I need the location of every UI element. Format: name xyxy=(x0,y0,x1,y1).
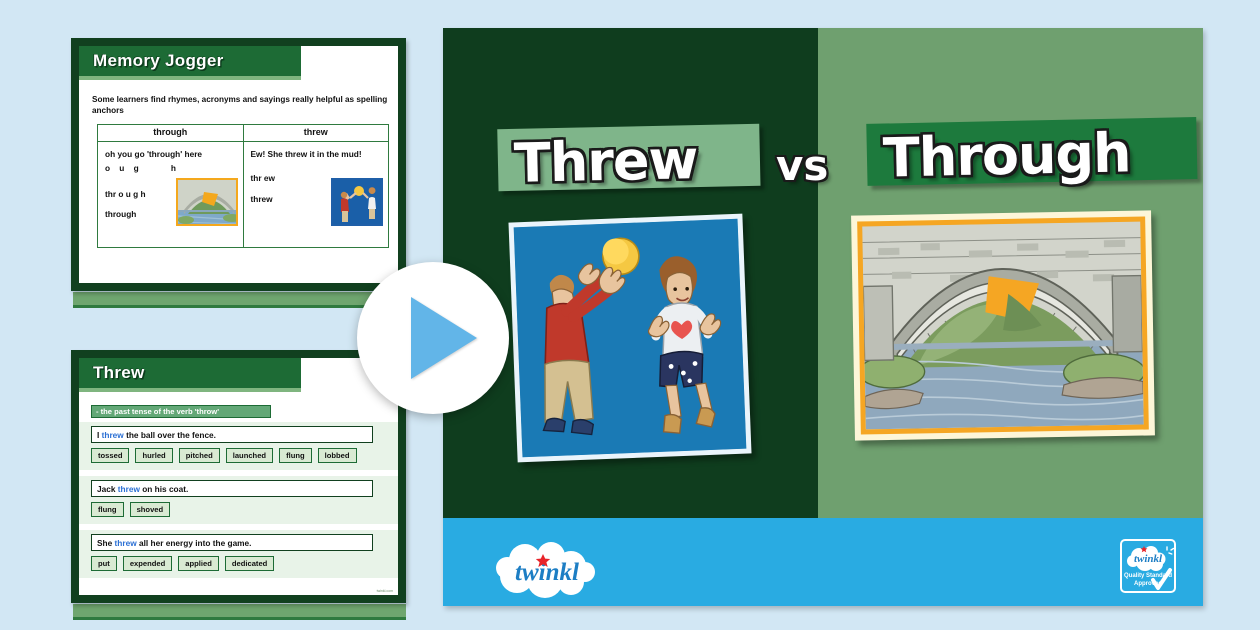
quality-standard-approved-badge: twinkl Quality Standard Approved xyxy=(1119,536,1177,598)
threw-slide-footer: twinkl.com xyxy=(377,589,393,593)
bridge-thumbnail-image xyxy=(176,178,238,226)
threw-synonyms-1: tossed hurled pitched launched flung lob… xyxy=(91,448,357,463)
table-row: oh you go 'through' here o u g h thr o u… xyxy=(98,142,389,248)
photo-bridge-border xyxy=(857,217,1149,435)
threw-block-3: She threw all her energy into the game. … xyxy=(79,530,398,578)
sentence-1-post: the ball over the fence. xyxy=(124,430,216,440)
twinkl-cloud-logo: twinkl xyxy=(495,540,605,602)
photo-children-inner xyxy=(514,219,747,457)
synonym-chip[interactable]: pitched xyxy=(179,448,220,463)
sentence-2-post: on his coat. xyxy=(140,484,188,494)
slide-accent-band-bottom xyxy=(73,604,406,620)
threw-block-1: I threw the ball over the fence. tossed … xyxy=(79,422,398,470)
memory-jogger-intro-text: Some learners find rhymes, acronyms and … xyxy=(92,94,397,116)
children-throwing-ball-thumbnail-image xyxy=(331,178,383,226)
slide-threw-content: Threw - the past tense of the verb 'thro… xyxy=(79,358,398,595)
sentence-3-pre: She xyxy=(97,538,115,548)
threw-title-bar: Threw xyxy=(79,358,301,392)
title-vs-text: vs xyxy=(776,141,828,190)
main-title-row: Threw vs Through xyxy=(443,123,1203,213)
twinkl-logo: twinkl xyxy=(495,540,605,602)
title-threw-text: Threw xyxy=(497,125,712,202)
threw-sentence-3: She threw all her energy into the game. xyxy=(91,534,373,551)
table-cell-through: oh you go 'through' here o u g h thr o u… xyxy=(98,142,244,248)
play-button[interactable] xyxy=(357,262,509,414)
synonym-chip[interactable]: flung xyxy=(91,502,124,517)
play-triangle-icon xyxy=(411,297,477,379)
sentence-3-highlight: threw xyxy=(115,538,137,548)
slide-preview-page: Memory Jogger Some learners find rhymes,… xyxy=(0,0,1260,630)
table-header-row: through threw xyxy=(98,125,389,142)
title-through-text: Through xyxy=(866,118,1145,197)
synonym-chip[interactable]: put xyxy=(91,556,117,571)
sentence-2-pre: Jack xyxy=(97,484,118,494)
synonym-chip[interactable]: lobbed xyxy=(318,448,357,463)
synonym-chip[interactable]: shoved xyxy=(130,502,171,517)
table-cell-threw: Ew! She threw it in the mud! thr ew thre… xyxy=(243,142,389,248)
threw-subtitle: - the past tense of the verb 'throw' xyxy=(91,405,271,418)
title-threw-plate: Threw xyxy=(497,125,712,202)
title-through-plate: Through xyxy=(866,118,1145,197)
through-line-1: oh you go 'through' here xyxy=(105,148,236,161)
children-throwing-ball-illustration xyxy=(514,219,747,457)
slide-memory-jogger-content: Memory Jogger Some learners find rhymes,… xyxy=(79,46,398,283)
synonym-chip[interactable]: applied xyxy=(178,556,219,571)
threw-title: Threw xyxy=(93,363,145,383)
memory-jogger-table: through threw oh you go 'through' here o… xyxy=(97,124,389,248)
stone-bridge-illustration xyxy=(862,222,1144,430)
sentence-1-highlight: threw xyxy=(102,430,124,440)
threw-synonyms-2: flung shoved xyxy=(91,502,170,517)
table-header-through: through xyxy=(98,125,244,142)
memory-jogger-title: Memory Jogger xyxy=(93,51,224,71)
through-line-2: o u g h xyxy=(105,162,236,175)
slide-threw[interactable]: Threw - the past tense of the verb 'thro… xyxy=(71,350,406,603)
svg-text:twinkl: twinkl xyxy=(1134,553,1163,565)
threw-sentence-1: I threw the ball over the fence. xyxy=(91,426,373,443)
photo-bridge-inner xyxy=(862,222,1144,430)
synonym-chip[interactable]: launched xyxy=(226,448,273,463)
sentence-2-highlight: threw xyxy=(118,484,140,494)
memory-jogger-title-bar: Memory Jogger xyxy=(79,46,301,80)
synonym-chip[interactable]: dedicated xyxy=(225,556,274,571)
threw-line-1: Ew! She threw it in the mud! xyxy=(251,148,382,161)
table-header-threw: threw xyxy=(243,125,389,142)
synonym-chip[interactable]: tossed xyxy=(91,448,129,463)
photo-bridge xyxy=(851,210,1155,440)
twinkl-wordmark: twinkl xyxy=(515,559,579,586)
synonym-chip[interactable]: flung xyxy=(279,448,312,463)
sentence-3-post: all her energy into the game. xyxy=(137,538,252,548)
synonym-chip[interactable]: hurled xyxy=(135,448,172,463)
threw-synonyms-3: put expended applied dedicated xyxy=(91,556,274,571)
main-slide[interactable]: Threw vs Through xyxy=(443,28,1203,606)
slide-memory-jogger[interactable]: Memory Jogger Some learners find rhymes,… xyxy=(71,38,406,291)
photo-children-throwing-ball xyxy=(508,214,751,463)
synonym-chip[interactable]: expended xyxy=(123,556,172,571)
slide-accent-band-top xyxy=(73,292,406,308)
threw-sentence-2: Jack threw on his coat. xyxy=(91,480,373,497)
threw-block-2: Jack threw on his coat. flung shoved xyxy=(79,476,398,524)
